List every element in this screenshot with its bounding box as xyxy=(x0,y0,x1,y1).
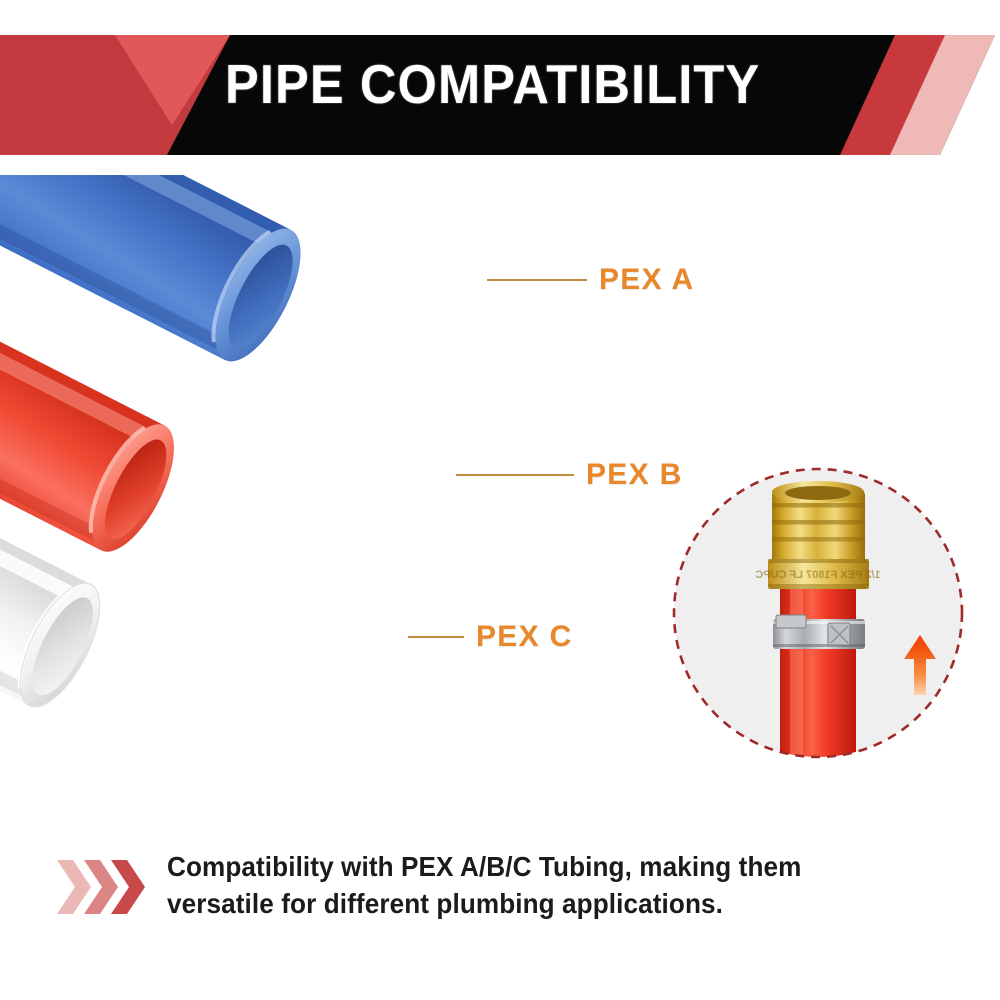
brass-pex-fitting: 1/2 PEX F1807 LF CUPC xyxy=(755,481,880,589)
banner-red-stripe xyxy=(840,35,945,155)
callout-pex-a: PEX A xyxy=(487,260,694,300)
header-banner: PIPE COMPATIBILITY xyxy=(0,0,1000,175)
callout-pex-c: PEX C xyxy=(408,617,573,657)
blue-pipe xyxy=(0,175,318,374)
infographic-page: PIPE COMPATIBILITY xyxy=(0,0,1000,1000)
banner-red-triangle xyxy=(115,35,230,125)
leader-line-pex-c xyxy=(408,636,464,638)
banner-pink-stripe xyxy=(885,35,995,155)
leader-line-pex-a xyxy=(487,279,587,281)
fitting-engraved-text: 1/2 PEX F1807 LF CUPC xyxy=(755,569,880,581)
callout-label-pex-c: PEX C xyxy=(476,620,573,654)
detail-circle-inset: 1/2 PEX F1807 LF CUPC xyxy=(668,463,968,763)
page-title: PIPE COMPATIBILITY xyxy=(225,48,832,120)
chevron-1-icon xyxy=(57,860,91,914)
banner-red-block xyxy=(0,35,230,155)
callout-label-pex-a: PEX A xyxy=(599,263,694,297)
chevron-arrows-icon xyxy=(57,858,149,916)
leader-line-pex-b xyxy=(456,474,574,476)
stainless-cinch-clamp xyxy=(773,615,865,649)
footer-caption-text: Compatibility with PEX A/B/C Tubing, mak… xyxy=(167,849,889,922)
detail-circle-svg: 1/2 PEX F1807 LF CUPC xyxy=(668,463,968,763)
footer-caption: Compatibility with PEX A/B/C Tubing, mak… xyxy=(0,845,1000,965)
callout-pex-b: PEX B xyxy=(456,455,683,495)
